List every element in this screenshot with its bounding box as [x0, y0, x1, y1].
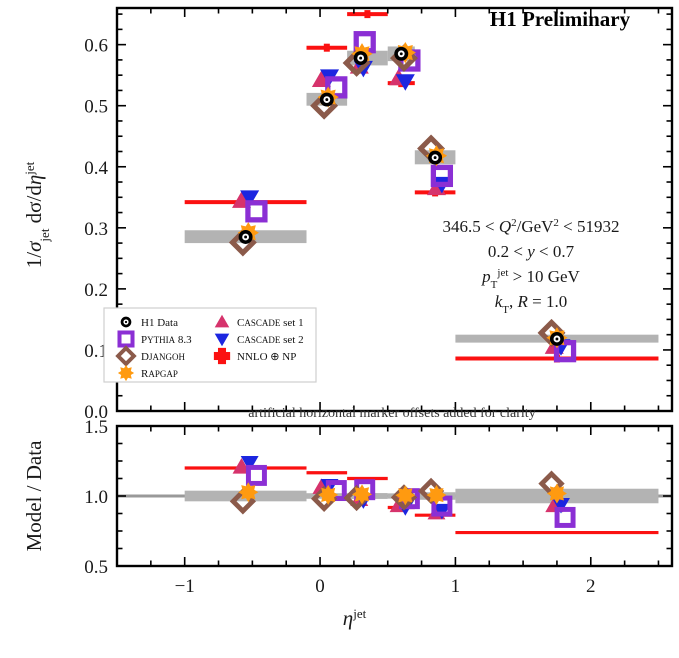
plot-title: H1 Preliminary	[490, 7, 631, 31]
legend[interactable]: H1 DataPYTHIA 8.3DJANGOHRAPGAPCASCADE se…	[104, 308, 316, 382]
legend-label: CASCADE set 1	[237, 317, 304, 329]
marker-circle-dot	[354, 51, 368, 65]
ratio-panel: −10120.51.01.5	[84, 417, 672, 597]
y-axis-label-bottom: Model / Data	[22, 440, 46, 551]
legend-label: H1 Data	[141, 317, 178, 329]
marker-circle-dot	[320, 93, 334, 107]
marker-star-burst	[238, 482, 258, 502]
svg-text:346.5 < Q2/GeV2 < 51932: 346.5 < Q2/GeV2 < 51932	[442, 217, 619, 236]
marker-square-open	[557, 509, 573, 525]
svg-text:−1: −1	[175, 576, 195, 597]
svg-text:0.4: 0.4	[84, 158, 108, 179]
svg-text:kT, R = 1.0: kT, R = 1.0	[495, 292, 568, 316]
marker-star-burst	[547, 483, 567, 503]
svg-text:1.0: 1.0	[84, 487, 108, 508]
svg-text:0.2: 0.2	[84, 280, 108, 301]
legend-label: DJANGOH	[141, 351, 185, 363]
marker-star-burst	[426, 485, 446, 505]
marker-circle-dot	[121, 317, 132, 328]
marker-offset-note: artificial horizontal marker offsets add…	[248, 406, 535, 421]
x-axis-label: ηjet	[343, 606, 367, 631]
svg-text:2: 2	[586, 576, 596, 597]
legend-label: NNLO ⊕ NP	[237, 351, 296, 363]
y-axis-label-top: 1/σjet dσ/dηjet	[22, 161, 52, 268]
ratio-panel-data	[117, 456, 672, 533]
marker-square-open	[433, 167, 450, 184]
svg-text:0.5: 0.5	[84, 97, 108, 118]
marker-circle-dot	[550, 332, 564, 346]
marker-circle-dot	[394, 47, 408, 61]
svg-text:0: 0	[315, 576, 325, 597]
marker-star-burst	[318, 485, 338, 505]
svg-text:0.3: 0.3	[84, 219, 108, 240]
svg-text:0.5: 0.5	[84, 557, 108, 578]
marker-star-burst	[118, 365, 134, 381]
figure-root: 0.00.10.20.30.40.50.6−10120.51.01.51/σje…	[0, 0, 679, 658]
svg-text:0.6: 0.6	[84, 36, 108, 57]
marker-circle-dot	[428, 151, 442, 165]
marker-star-burst	[395, 485, 415, 505]
kinematics-annotation: 346.5 < Q2/GeV2 < 519320.2 < y < 0.7pTje…	[442, 217, 619, 316]
plot-canvas: 0.00.10.20.30.40.50.6−10120.51.01.51/σje…	[0, 0, 679, 658]
svg-text:0.2 < y < 0.7: 0.2 < y < 0.7	[488, 242, 575, 261]
svg-text:pTjet > 10 GeV: pTjet > 10 GeV	[481, 267, 580, 291]
legend-label: PYTHIA 8.3	[141, 334, 192, 346]
svg-text:1.5: 1.5	[84, 417, 108, 438]
marker-square-open	[248, 467, 264, 483]
svg-text:1: 1	[451, 576, 461, 597]
marker-square-open	[248, 203, 265, 220]
legend-label: RAPGAP	[141, 368, 178, 380]
legend-label: CASCADE set 2	[237, 334, 304, 346]
marker-circle-dot	[239, 230, 253, 244]
marker-star-burst	[352, 484, 372, 504]
